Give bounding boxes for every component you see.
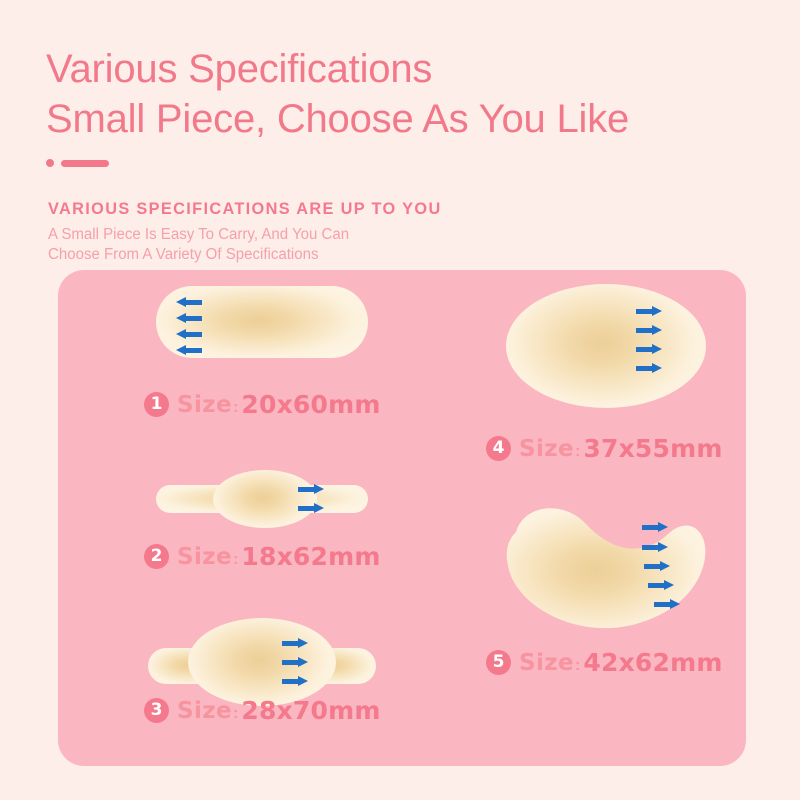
size-label-3: Size — [177, 698, 232, 724]
arrow-right-1 — [298, 484, 324, 495]
arrow-right-5 — [654, 599, 680, 610]
badge-number-5: 5 — [486, 650, 511, 675]
arrow-right-1 — [282, 638, 308, 649]
size-value-4: 37x55mm — [583, 434, 722, 463]
size-value-5: 42x62mm — [583, 648, 722, 677]
size-label-4: Size — [519, 436, 574, 462]
spec-caption-2: 2 Size : 18x62mm — [144, 542, 381, 571]
eyebrow-text: VARIOUS SPECIFICATIONS ARE UP TO YOU — [48, 198, 720, 220]
crescent-shape — [502, 498, 712, 630]
size-label-5: Size — [519, 650, 574, 676]
subheading-block: VARIOUS SPECIFICATIONS ARE UP TO YOU A S… — [48, 198, 748, 265]
spec-item-1 — [156, 286, 368, 358]
description-line-1: A Small Piece Is Easy To Carry, And You … — [48, 225, 727, 245]
headline-line-2: Small Piece, Choose As You Like — [46, 94, 766, 144]
spec-item-2 — [156, 466, 368, 530]
spec-caption-3: 3 Size : 28x70mm — [144, 696, 381, 725]
ellipse-shape — [506, 284, 706, 408]
arrow-right-4 — [636, 363, 662, 374]
wide-oval-shape — [188, 618, 336, 706]
divider — [46, 158, 766, 168]
size-label-2: Size — [177, 544, 232, 570]
product-art-2 — [156, 466, 368, 530]
size-colon-4: : — [575, 443, 580, 461]
badge-number-2: 2 — [144, 544, 169, 569]
divider-dash-icon — [61, 160, 109, 167]
badge-number-3: 3 — [144, 698, 169, 723]
badge-number-1: 1 — [144, 392, 169, 417]
oval-bulge-shape — [213, 470, 317, 528]
size-label-1: Size — [177, 392, 232, 418]
product-art-3 — [148, 616, 376, 706]
arrow-right-1 — [642, 522, 668, 533]
spec-caption-4: 4 Size : 37x55mm — [486, 434, 723, 463]
spec-caption-5: 5 Size : 42x62mm — [486, 648, 723, 677]
arrow-right-4 — [648, 580, 674, 591]
size-value-3: 28x70mm — [241, 696, 380, 725]
product-art-1 — [156, 286, 368, 358]
size-colon-2: : — [233, 551, 238, 569]
size-colon-5: : — [575, 657, 580, 675]
size-value-1: 20x60mm — [241, 390, 380, 419]
arrow-left-2 — [176, 313, 202, 324]
size-colon-1: : — [233, 399, 238, 417]
arrow-right-2 — [642, 542, 668, 553]
arrow-right-3 — [282, 676, 308, 687]
spec-item-5 — [502, 498, 712, 630]
spec-caption-1: 1 Size : 20x60mm — [144, 390, 381, 419]
arrow-right-1 — [636, 306, 662, 317]
spec-item-4 — [506, 284, 706, 408]
arrow-right-3 — [644, 561, 670, 572]
divider-dot-icon — [46, 159, 54, 167]
arrow-left-3 — [176, 329, 202, 340]
size-colon-3: : — [233, 705, 238, 723]
arrow-right-2 — [298, 503, 324, 514]
size-value-2: 18x62mm — [241, 542, 380, 571]
specifications-panel: 1 Size : 20x60mm 2 Size : 18x62mm 3 Size — [58, 270, 746, 766]
arrow-left-4 — [176, 345, 202, 356]
headline-line-1: Various Specifications — [46, 44, 766, 94]
description-line-2: Choose From A Variety Of Specifications — [48, 245, 727, 265]
arrow-right-3 — [636, 344, 662, 355]
spec-item-3 — [148, 616, 376, 706]
arrow-right-2 — [282, 657, 308, 668]
arrow-right-2 — [636, 325, 662, 336]
product-art-4 — [506, 284, 706, 408]
arrow-left-1 — [176, 297, 202, 308]
product-art-5 — [502, 498, 712, 630]
badge-number-4: 4 — [486, 436, 511, 461]
page-header: Various Specifications Small Piece, Choo… — [46, 44, 766, 168]
